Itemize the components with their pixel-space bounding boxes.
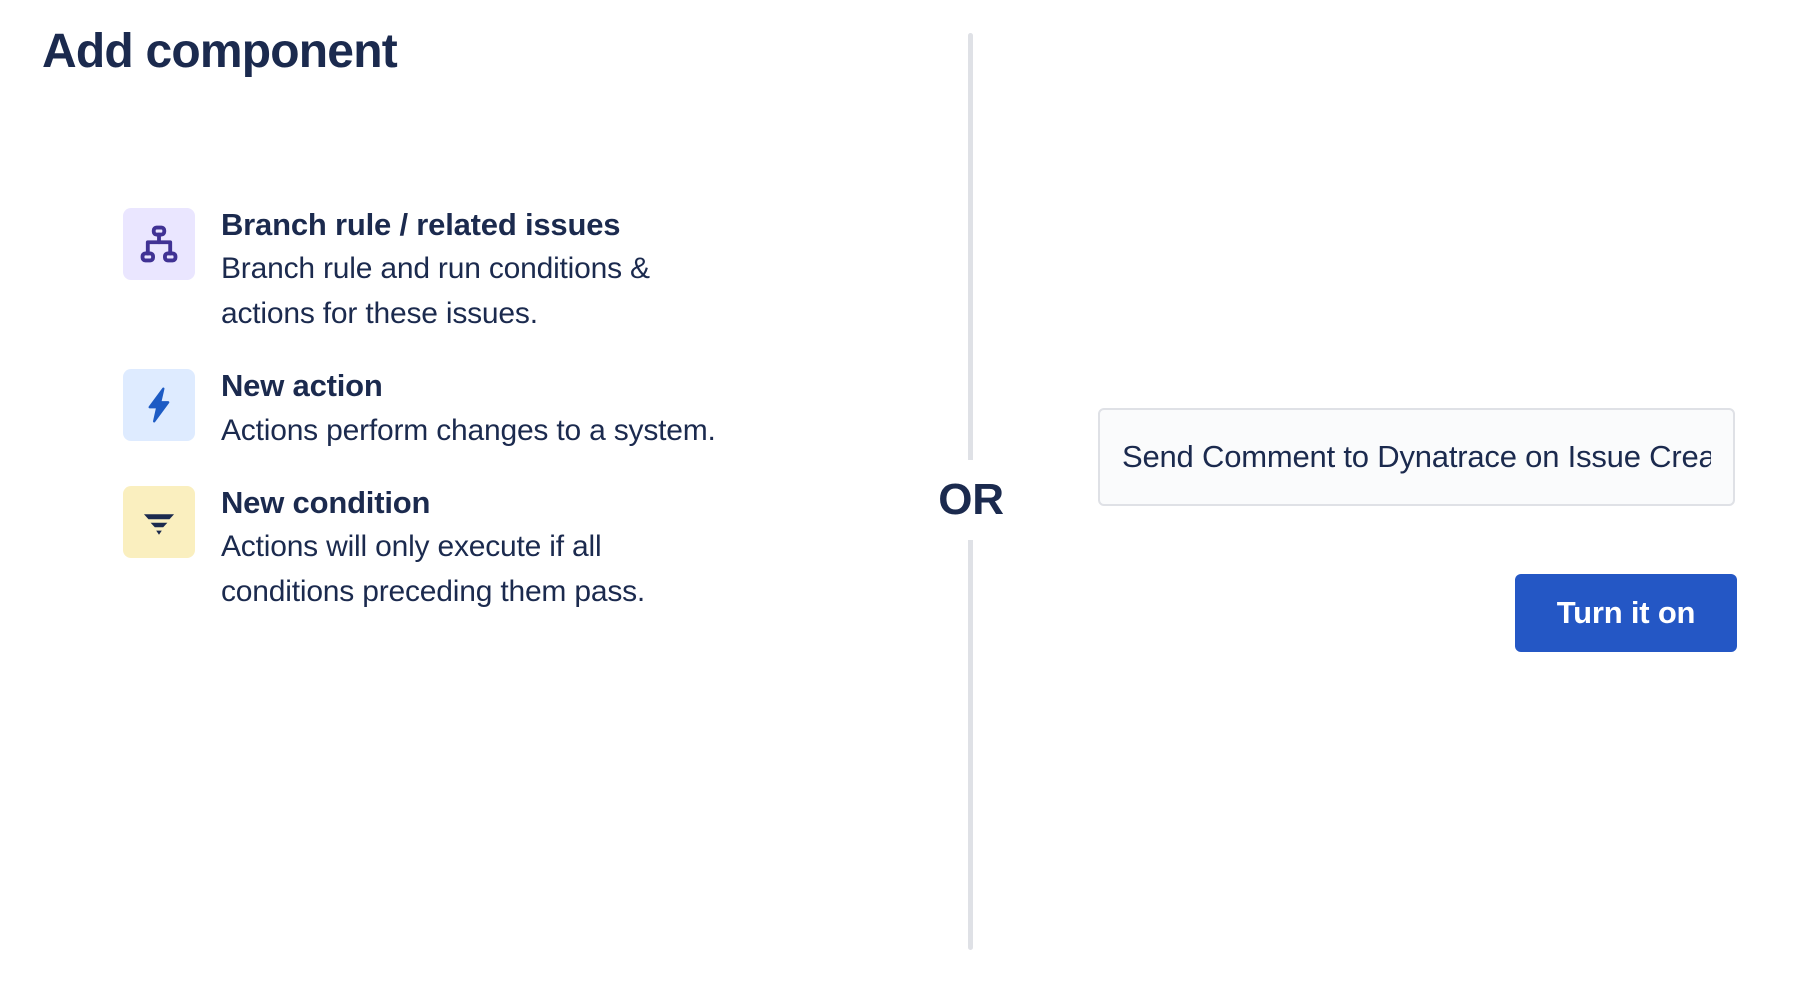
- rule-name-field[interactable]: [1098, 408, 1735, 506]
- component-list: Branch rule / related issues Branch rule…: [123, 205, 763, 614]
- component-option-new-action[interactable]: New action Actions perform changes to a …: [123, 366, 763, 452]
- page-title: Add component: [42, 26, 397, 79]
- component-description: Actions will only execute if all conditi…: [221, 524, 731, 614]
- component-name: Branch rule / related issues: [221, 205, 731, 245]
- component-option-branch-rule[interactable]: Branch rule / related issues Branch rule…: [123, 205, 763, 336]
- component-text: New condition Actions will only execute …: [221, 483, 731, 614]
- branch-hierarchy-icon: [123, 208, 195, 280]
- component-option-new-condition[interactable]: New condition Actions will only execute …: [123, 483, 763, 614]
- filter-funnel-icon: [123, 486, 195, 558]
- component-name: New action: [221, 366, 716, 406]
- or-separator-label: OR: [920, 460, 1022, 540]
- turn-it-on-button[interactable]: Turn it on: [1515, 574, 1737, 652]
- lightning-bolt-icon: [123, 369, 195, 441]
- rule-name-input[interactable]: [1122, 439, 1711, 475]
- component-description: Branch rule and run conditions & actions…: [221, 246, 731, 336]
- component-name: New condition: [221, 483, 731, 523]
- component-text: New action Actions perform changes to a …: [221, 366, 716, 452]
- component-description: Actions perform changes to a system.: [221, 408, 716, 453]
- component-text: Branch rule / related issues Branch rule…: [221, 205, 731, 336]
